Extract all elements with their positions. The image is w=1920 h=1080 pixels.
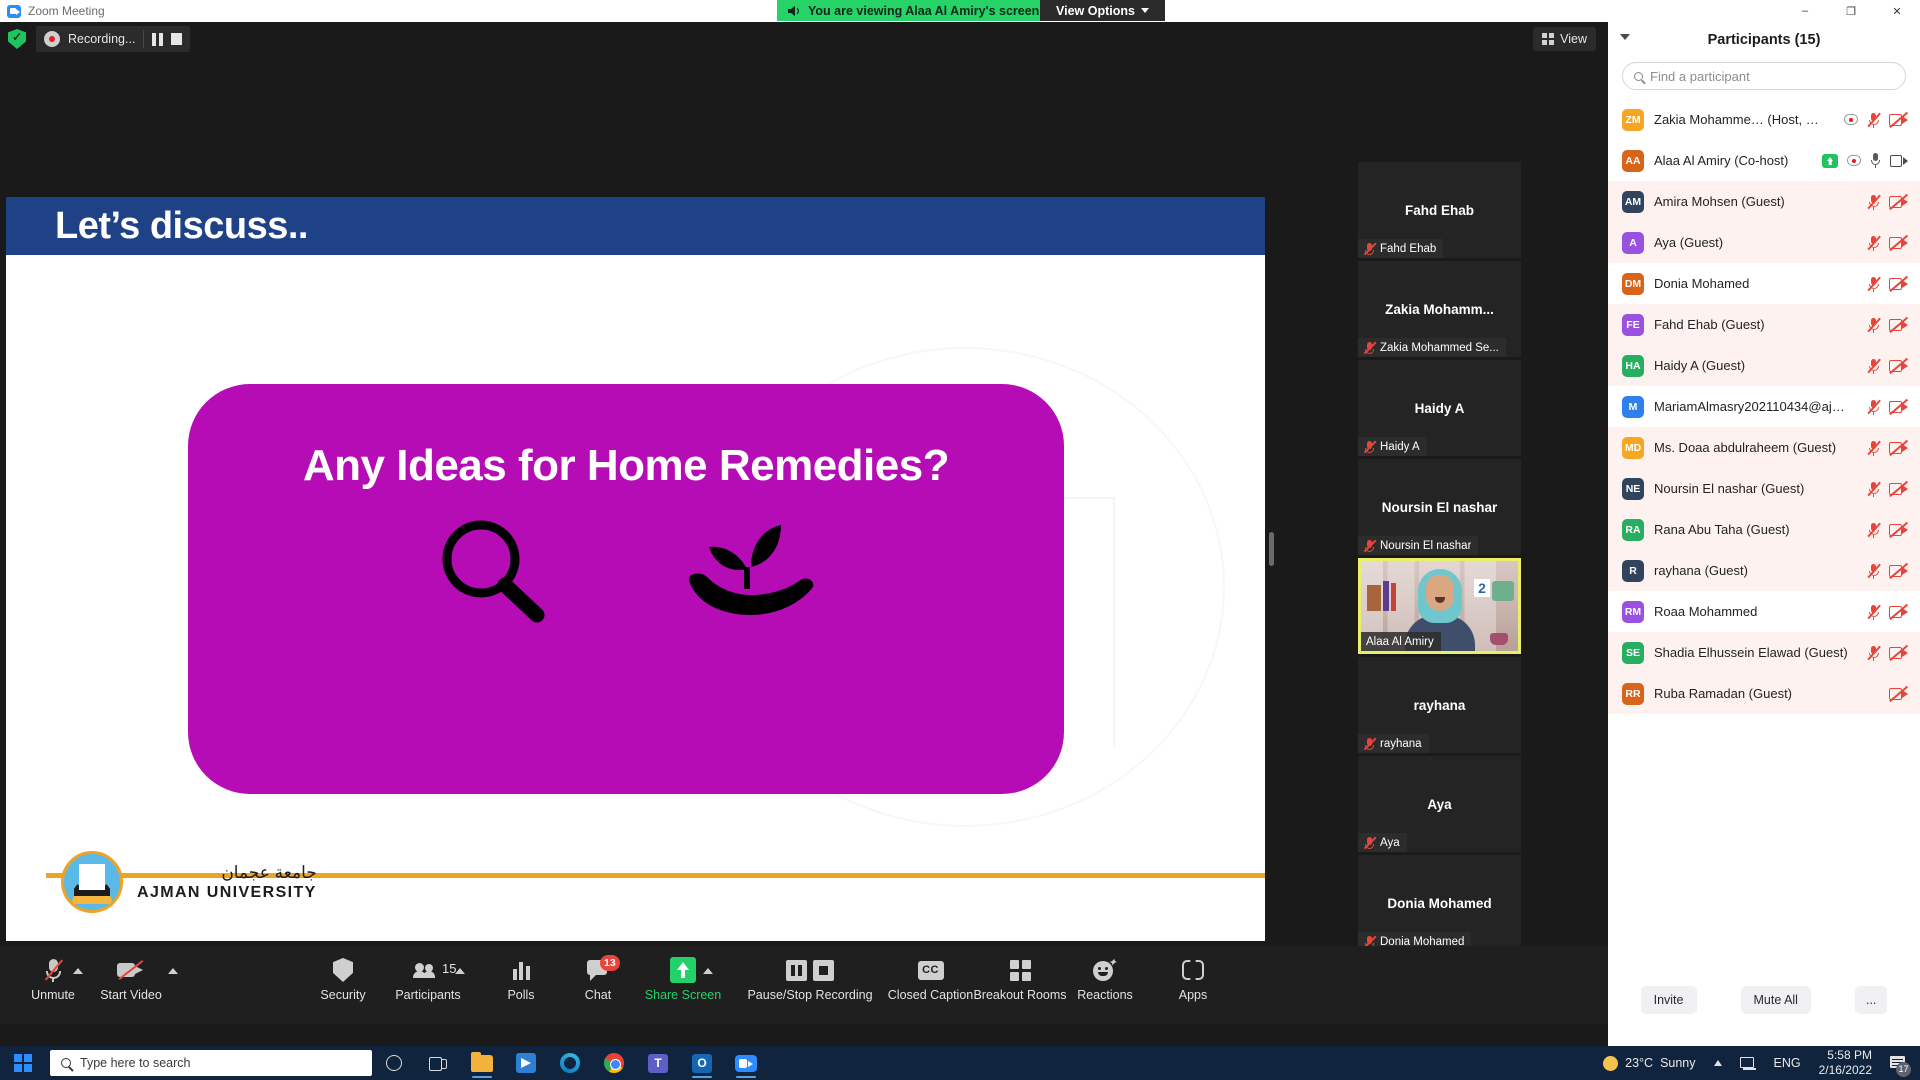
video-tile[interactable]: Zakia Mohamm...Zakia Mohammed Se...	[1358, 261, 1521, 357]
participant-name: Amira Mohsen (Guest)	[1654, 194, 1851, 209]
camera-muted-icon[interactable]	[1889, 687, 1908, 701]
microphone-muted-icon	[43, 958, 63, 982]
camera-muted-icon[interactable]	[1889, 318, 1908, 332]
view-options-button[interactable]: View Options	[1040, 0, 1165, 21]
participant-name: Roaa Mohammed	[1654, 604, 1851, 619]
breakout-rooms-icon	[1010, 960, 1031, 981]
participant-row[interactable]: RMRoaa Mohammed	[1608, 591, 1920, 632]
chat-bubble-icon: 13	[587, 960, 609, 980]
toolbar-button-label: Breakout Rooms	[973, 988, 1066, 1002]
participant-name: rayhana (Guest)	[1654, 563, 1851, 578]
camera-muted-icon[interactable]	[1889, 564, 1908, 578]
participant-name: Ms. Doaa abdulraheem (Guest)	[1654, 440, 1851, 455]
tile-name: Zakia Mohammed Se...	[1380, 342, 1499, 354]
avatar: R	[1622, 560, 1644, 582]
mic-muted-icon[interactable]	[1867, 645, 1880, 661]
tile-nameplate: rayhana	[1358, 734, 1429, 753]
toolbar-button-label: Polls	[507, 988, 534, 1002]
tile-display-name: rayhana	[1408, 698, 1472, 713]
toolbar-button-polls[interactable]: Polls	[478, 954, 564, 1002]
taskbar-search-box[interactable]: Type here to search	[50, 1050, 372, 1076]
participant-name: Alaa Al Amiry (Co-host)	[1654, 153, 1806, 168]
tile-name: Aya	[1380, 837, 1400, 849]
participant-status-icons	[1867, 235, 1908, 251]
tile-nameplate: Zakia Mohammed Se...	[1358, 338, 1506, 357]
toolbar-button-breakout-rooms[interactable]: Breakout Rooms	[965, 954, 1075, 1002]
people-icon: 15	[415, 961, 441, 979]
weather-temperature: 23°C	[1625, 1056, 1653, 1070]
tile-nameplate: Fahd Ehab	[1358, 239, 1443, 258]
logo-english-text: AJMAN UNIVERSITY	[137, 884, 317, 902]
participant-status-icons	[1867, 563, 1908, 579]
participant-row[interactable]: AAAlaa Al Amiry (Co-host)	[1608, 140, 1920, 181]
participant-status-icons	[1867, 440, 1908, 456]
recording-icon	[1847, 155, 1861, 166]
participant-status-icons	[1822, 153, 1908, 168]
more-options-button[interactable]: ...	[1855, 986, 1887, 1014]
tile-name: rayhana	[1380, 738, 1422, 750]
participant-search-box[interactable]	[1622, 62, 1906, 90]
camera-on-icon[interactable]	[1890, 155, 1908, 167]
mic-muted-icon[interactable]	[1867, 522, 1880, 538]
participant-row[interactable]: Rrayhana (Guest)	[1608, 550, 1920, 591]
weather-widget[interactable]: 23°C Sunny	[1594, 1046, 1704, 1080]
participant-name: Haidy A (Guest)	[1654, 358, 1851, 373]
avatar: RR	[1622, 683, 1644, 705]
mic-muted-icon[interactable]	[1867, 194, 1880, 210]
avatar: AA	[1622, 150, 1644, 172]
tile-nameplate: Aya	[1358, 833, 1407, 852]
taskbar-search-placeholder: Type here to search	[80, 1056, 190, 1070]
participant-name: Zakia Mohamme… (Host, me)	[1654, 112, 1828, 127]
tile-display-name: Haidy A	[1409, 401, 1471, 416]
avatar: RM	[1622, 601, 1644, 623]
participant-status-icons	[1867, 276, 1908, 292]
camera-muted-icon[interactable]	[1889, 605, 1908, 619]
pause-icon[interactable]	[152, 33, 163, 46]
video-filmstrip: Fahd EhabFahd EhabZakia Mohamm...Zakia M…	[1358, 162, 1521, 982]
toolbar-button-label: Apps	[1179, 988, 1208, 1002]
view-layout-button[interactable]: View	[1533, 27, 1596, 51]
recording-indicator: Recording...	[36, 26, 190, 52]
toolbar-button-label: Unmute	[31, 988, 75, 1002]
participant-row[interactable]: ZMZakia Mohamme… (Host, me)	[1608, 99, 1920, 140]
recording-bar: Recording... View	[0, 22, 1608, 56]
video-tile[interactable]: Haidy AHaidy A	[1358, 360, 1521, 456]
toolbar-button-label: Share Screen	[645, 988, 721, 1002]
tile-display-name: Donia Mohamed	[1381, 896, 1497, 911]
caret-up-icon[interactable]	[168, 968, 178, 974]
participant-status-icons	[1889, 687, 1908, 701]
participant-name: Ruba Ramadan (Guest)	[1654, 686, 1873, 701]
camera-muted-icon[interactable]	[1889, 113, 1908, 127]
avatar: AM	[1622, 191, 1644, 213]
participant-row[interactable]: HAHaidy A (Guest)	[1608, 345, 1920, 386]
network-status-button[interactable]	[1731, 1046, 1765, 1080]
plant-in-hand-icon	[681, 515, 821, 625]
camera-off-icon	[117, 960, 145, 980]
panel-drag-handle[interactable]	[1269, 532, 1274, 566]
mic-on-icon[interactable]	[1870, 153, 1881, 168]
divider	[143, 30, 144, 48]
network-icon	[1740, 1057, 1756, 1070]
mic-muted-icon	[1363, 341, 1375, 355]
video-tile[interactable]: AyaAya	[1358, 756, 1521, 852]
file-explorer-icon[interactable]	[460, 1046, 504, 1080]
toolbar-button-label: Pause/Stop Recording	[747, 988, 872, 1002]
notification-count-badge: 17	[1896, 1062, 1911, 1077]
tile-name: Noursin El nashar	[1380, 540, 1471, 552]
stop-icon[interactable]	[171, 33, 182, 45]
camera-muted-icon[interactable]	[1889, 482, 1908, 496]
avatar: M	[1622, 396, 1644, 418]
avatar: A	[1622, 232, 1644, 254]
maximize-button[interactable]: ❐	[1828, 0, 1874, 22]
chevron-up-icon	[1714, 1060, 1722, 1066]
participants-panel-footer: Invite Mute All ...	[1608, 976, 1920, 1024]
clock-time: 5:58 PM	[1827, 1048, 1872, 1063]
shared-slide: Let’s discuss.. Any Ideas for Home Remed…	[6, 197, 1265, 941]
title-bar-left: Zoom Meeting	[0, 4, 105, 18]
mic-muted-icon[interactable]	[1867, 563, 1880, 579]
camera-muted-icon[interactable]	[1889, 646, 1908, 660]
invite-button[interactable]: Invite	[1641, 986, 1697, 1014]
mic-muted-icon[interactable]	[1867, 358, 1880, 374]
share-banner-text: You are viewing Alaa Al Amiry's screen	[808, 4, 1039, 18]
chat-unread-badge: 13	[600, 955, 620, 971]
participant-row[interactable]: AMAmira Mohsen (Guest)	[1608, 181, 1920, 222]
toolbar-button-share-screen[interactable]: Share Screen	[640, 954, 726, 1002]
avatar: FE	[1622, 314, 1644, 336]
action-center-button[interactable]: 17	[1881, 1046, 1916, 1080]
avatar: ZM	[1622, 109, 1644, 131]
toolbar-button-label: Start Video	[100, 988, 162, 1002]
mic-muted-icon	[1363, 539, 1375, 553]
windows-taskbar: Type here to search 23°C Sunny ENG 5:58 …	[0, 1046, 1920, 1080]
search-input[interactable]	[1650, 69, 1894, 84]
tile-display-name: Noursin El nashar	[1376, 500, 1504, 515]
toolbar-button-label: Chat	[585, 988, 611, 1002]
participant-status-icons	[1867, 481, 1908, 497]
participant-status-icons	[1867, 194, 1908, 210]
mic-muted-icon	[1363, 440, 1375, 454]
clock-date: 2/16/2022	[1819, 1063, 1872, 1078]
participant-name: Shadia Elhussein Elawad (Guest)	[1654, 645, 1851, 660]
participants-list: ZMZakia Mohamme… (Host, me)AAAlaa Al Ami…	[1608, 99, 1920, 714]
window-title: Zoom Meeting	[28, 4, 105, 18]
participant-status-icons	[1867, 522, 1908, 538]
mic-muted-icon	[1363, 242, 1375, 256]
camera-muted-icon[interactable]	[1889, 359, 1908, 373]
zoom-app-icon	[7, 5, 21, 18]
microsoft-store-icon[interactable]	[504, 1046, 548, 1080]
video-tile[interactable]: Fahd EhabFahd Ehab	[1358, 162, 1521, 258]
toolbar-button-chat[interactable]: 13Chat	[555, 954, 641, 1002]
record-dot-icon	[44, 31, 60, 47]
camera-muted-icon[interactable]	[1889, 441, 1908, 455]
participant-status-icons	[1867, 358, 1908, 374]
slide-title: Let’s discuss..	[55, 205, 308, 248]
video-tile[interactable]: Noursin El nasharNoursin El nashar	[1358, 459, 1521, 555]
avatar: NE	[1622, 478, 1644, 500]
logo-text: جامعة عجمان AJMAN UNIVERSITY	[137, 863, 317, 902]
avatar: MD	[1622, 437, 1644, 459]
closed-caption-icon: CC	[918, 961, 944, 980]
window-controls: – ❐ ✕	[1782, 0, 1920, 22]
mic-muted-icon[interactable]	[1867, 276, 1880, 292]
participants-panel: Participants (15) ZMZakia Mohamme… (Host…	[1608, 22, 1920, 1058]
participant-row[interactable]: DMDonia Mohamed	[1608, 263, 1920, 304]
logo-arabic-text: جامعة عجمان	[137, 863, 317, 883]
participant-status-icons	[1867, 399, 1908, 415]
participant-row[interactable]: RARana Abu Taha (Guest)	[1608, 509, 1920, 550]
video-tile[interactable]: rayhanarayhana	[1358, 657, 1521, 753]
toolbar-button-label: Closed Caption	[888, 988, 973, 1002]
outlook-icon[interactable]	[680, 1046, 724, 1080]
toolbar-button-label: Participants	[395, 988, 460, 1002]
mic-muted-icon[interactable]	[1867, 317, 1880, 333]
toolbar-button-participants[interactable]: 15Participants	[385, 954, 471, 1002]
google-chrome-icon[interactable]	[592, 1046, 636, 1080]
search-icon	[61, 1058, 71, 1068]
minimize-button[interactable]: –	[1782, 0, 1828, 22]
recording-icon	[1844, 114, 1858, 125]
pause-stop-recording-icon	[786, 960, 834, 981]
mic-muted-icon	[1363, 836, 1375, 850]
apps-icon	[1182, 960, 1204, 980]
participant-row[interactable]: AAya (Guest)	[1608, 222, 1920, 263]
participant-row[interactable]: FEFahd Ehab (Guest)	[1608, 304, 1920, 345]
mic-muted-icon[interactable]	[1867, 440, 1880, 456]
microsoft-teams-icon[interactable]	[636, 1046, 680, 1080]
camera-muted-icon[interactable]	[1889, 523, 1908, 537]
shared-screen-stage: Let’s discuss.. Any Ideas for Home Remed…	[0, 56, 1352, 976]
screen-share-banner: You are viewing Alaa Al Amiry's screen	[777, 0, 1050, 21]
tile-display-name: Aya	[1421, 797, 1457, 812]
caret-up-icon[interactable]	[455, 968, 465, 974]
avatar: SE	[1622, 642, 1644, 664]
participant-name: Donia Mohamed	[1654, 276, 1851, 291]
screen-share-icon	[1822, 154, 1838, 168]
participant-name: Aya (Guest)	[1654, 235, 1851, 250]
toolbar-button-label: Security	[320, 988, 365, 1002]
tile-nameplate: Alaa Al Amiry	[1361, 632, 1441, 651]
mic-muted-icon[interactable]	[1867, 399, 1880, 415]
slide-callout-box: Any Ideas for Home Remedies?	[188, 384, 1064, 794]
ajman-university-seal-icon	[61, 851, 123, 913]
chevron-down-icon	[1141, 8, 1149, 13]
sun-icon	[1603, 1056, 1618, 1071]
mute-all-button[interactable]: Mute All	[1741, 986, 1811, 1014]
participant-status-icons	[1867, 317, 1908, 333]
recording-label: Recording...	[68, 32, 135, 46]
toolbar-button-label: Reactions	[1077, 988, 1133, 1002]
toolbar-button-unmute[interactable]: Unmute	[10, 954, 96, 1002]
view-label: View	[1560, 32, 1587, 46]
participant-status-icons	[1867, 645, 1908, 661]
participant-name: Rana Abu Taha (Guest)	[1654, 522, 1851, 537]
mic-muted-icon[interactable]	[1867, 112, 1880, 128]
mic-muted-icon	[1363, 737, 1375, 751]
participant-row[interactable]: MDMs. Doaa abdulraheem (Guest)	[1608, 427, 1920, 468]
share-screen-icon	[670, 957, 696, 983]
tile-name: Fahd Ehab	[1380, 243, 1436, 255]
speaker-icon	[788, 5, 802, 17]
toolbar-button-pause-stop-recording[interactable]: Pause/Stop Recording	[735, 954, 885, 1002]
windows-start-icon[interactable]	[0, 1046, 46, 1080]
magnifier-icon	[431, 515, 551, 625]
action-center-icon: 17	[1890, 1055, 1907, 1072]
camera-muted-icon[interactable]	[1889, 236, 1908, 250]
task-view-icon[interactable]	[416, 1046, 460, 1080]
cortana-circle-icon[interactable]	[372, 1046, 416, 1080]
view-options-label: View Options	[1056, 4, 1135, 18]
toolbar-button-start-video[interactable]: Start Video	[88, 954, 174, 1002]
participants-panel-title: Participants (15)	[1608, 32, 1920, 48]
participant-status-icons	[1844, 112, 1908, 128]
reactions-smiley-icon: ✦	[1093, 959, 1117, 981]
participant-search-wrapper	[1608, 62, 1920, 90]
participant-row[interactable]: SEShadia Elhussein Elawad (Guest)	[1608, 632, 1920, 673]
participant-name: Noursin El nashar (Guest)	[1654, 481, 1851, 496]
tile-name: Alaa Al Amiry	[1366, 636, 1434, 648]
toolbar-button-reactions[interactable]: ✦Reactions	[1062, 954, 1148, 1002]
security-shield-icon	[8, 29, 26, 49]
system-tray: 23°C Sunny ENG 5:58 PM 2/16/2022 17	[1594, 1046, 1920, 1080]
close-button[interactable]: ✕	[1874, 0, 1920, 22]
poll-bars-icon	[513, 960, 530, 980]
video-tile[interactable]: 2Alaa Al Amiry	[1358, 558, 1521, 654]
video-tile[interactable]: Donia MohamedDonia Mohamed	[1358, 855, 1521, 951]
participant-name: MariamAlmasry202110434@ajm…	[1654, 399, 1851, 414]
slide-callout-text: Any Ideas for Home Remedies?	[303, 441, 949, 491]
camera-muted-icon[interactable]	[1889, 277, 1908, 291]
slide-callout-icons	[431, 515, 821, 625]
tile-display-name: Fahd Ehab	[1399, 203, 1480, 218]
tile-nameplate: Haidy A	[1358, 437, 1427, 456]
participant-row[interactable]: NENoursin El nashar (Guest)	[1608, 468, 1920, 509]
weather-description: Sunny	[1660, 1056, 1695, 1070]
participant-row[interactable]: MMariamAlmasry202110434@ajm…	[1608, 386, 1920, 427]
tile-name: Haidy A	[1380, 441, 1420, 453]
toolbar-button-security[interactable]: Security	[300, 954, 386, 1002]
avatar: RA	[1622, 519, 1644, 541]
participant-status-icons	[1867, 604, 1908, 620]
ajman-university-logo: جامعة عجمان AJMAN UNIVERSITY	[61, 851, 317, 913]
participant-row[interactable]: RRRuba Ramadan (Guest)	[1608, 673, 1920, 714]
mic-muted-icon[interactable]	[1867, 481, 1880, 497]
caret-up-icon[interactable]	[73, 968, 83, 974]
caret-up-icon[interactable]	[703, 968, 713, 974]
search-icon	[1634, 72, 1643, 81]
grid-view-icon	[1542, 33, 1554, 45]
participants-panel-header: Participants (15)	[1608, 22, 1920, 62]
avatar: HA	[1622, 355, 1644, 377]
tray-overflow-button[interactable]	[1705, 1046, 1731, 1080]
meeting-toolbar: UnmuteStart VideoSecurity15ParticipantsP…	[0, 946, 1608, 1024]
shield-icon	[333, 958, 353, 982]
mic-muted-icon[interactable]	[1867, 235, 1880, 251]
language-indicator[interactable]: ENG	[1765, 1046, 1810, 1080]
microsoft-edge-icon[interactable]	[548, 1046, 592, 1080]
zoom-icon[interactable]	[724, 1046, 768, 1080]
camera-muted-icon[interactable]	[1889, 195, 1908, 209]
tile-display-name: Zakia Mohamm...	[1379, 302, 1500, 317]
tile-nameplate: Noursin El nashar	[1358, 536, 1478, 555]
camera-muted-icon[interactable]	[1889, 400, 1908, 414]
mic-muted-icon[interactable]	[1867, 604, 1880, 620]
participant-name: Fahd Ehab (Guest)	[1654, 317, 1851, 332]
clock[interactable]: 5:58 PM 2/16/2022	[1810, 1048, 1881, 1078]
toolbar-button-apps[interactable]: Apps	[1150, 954, 1236, 1002]
avatar: DM	[1622, 273, 1644, 295]
language-label: ENG	[1774, 1056, 1801, 1070]
